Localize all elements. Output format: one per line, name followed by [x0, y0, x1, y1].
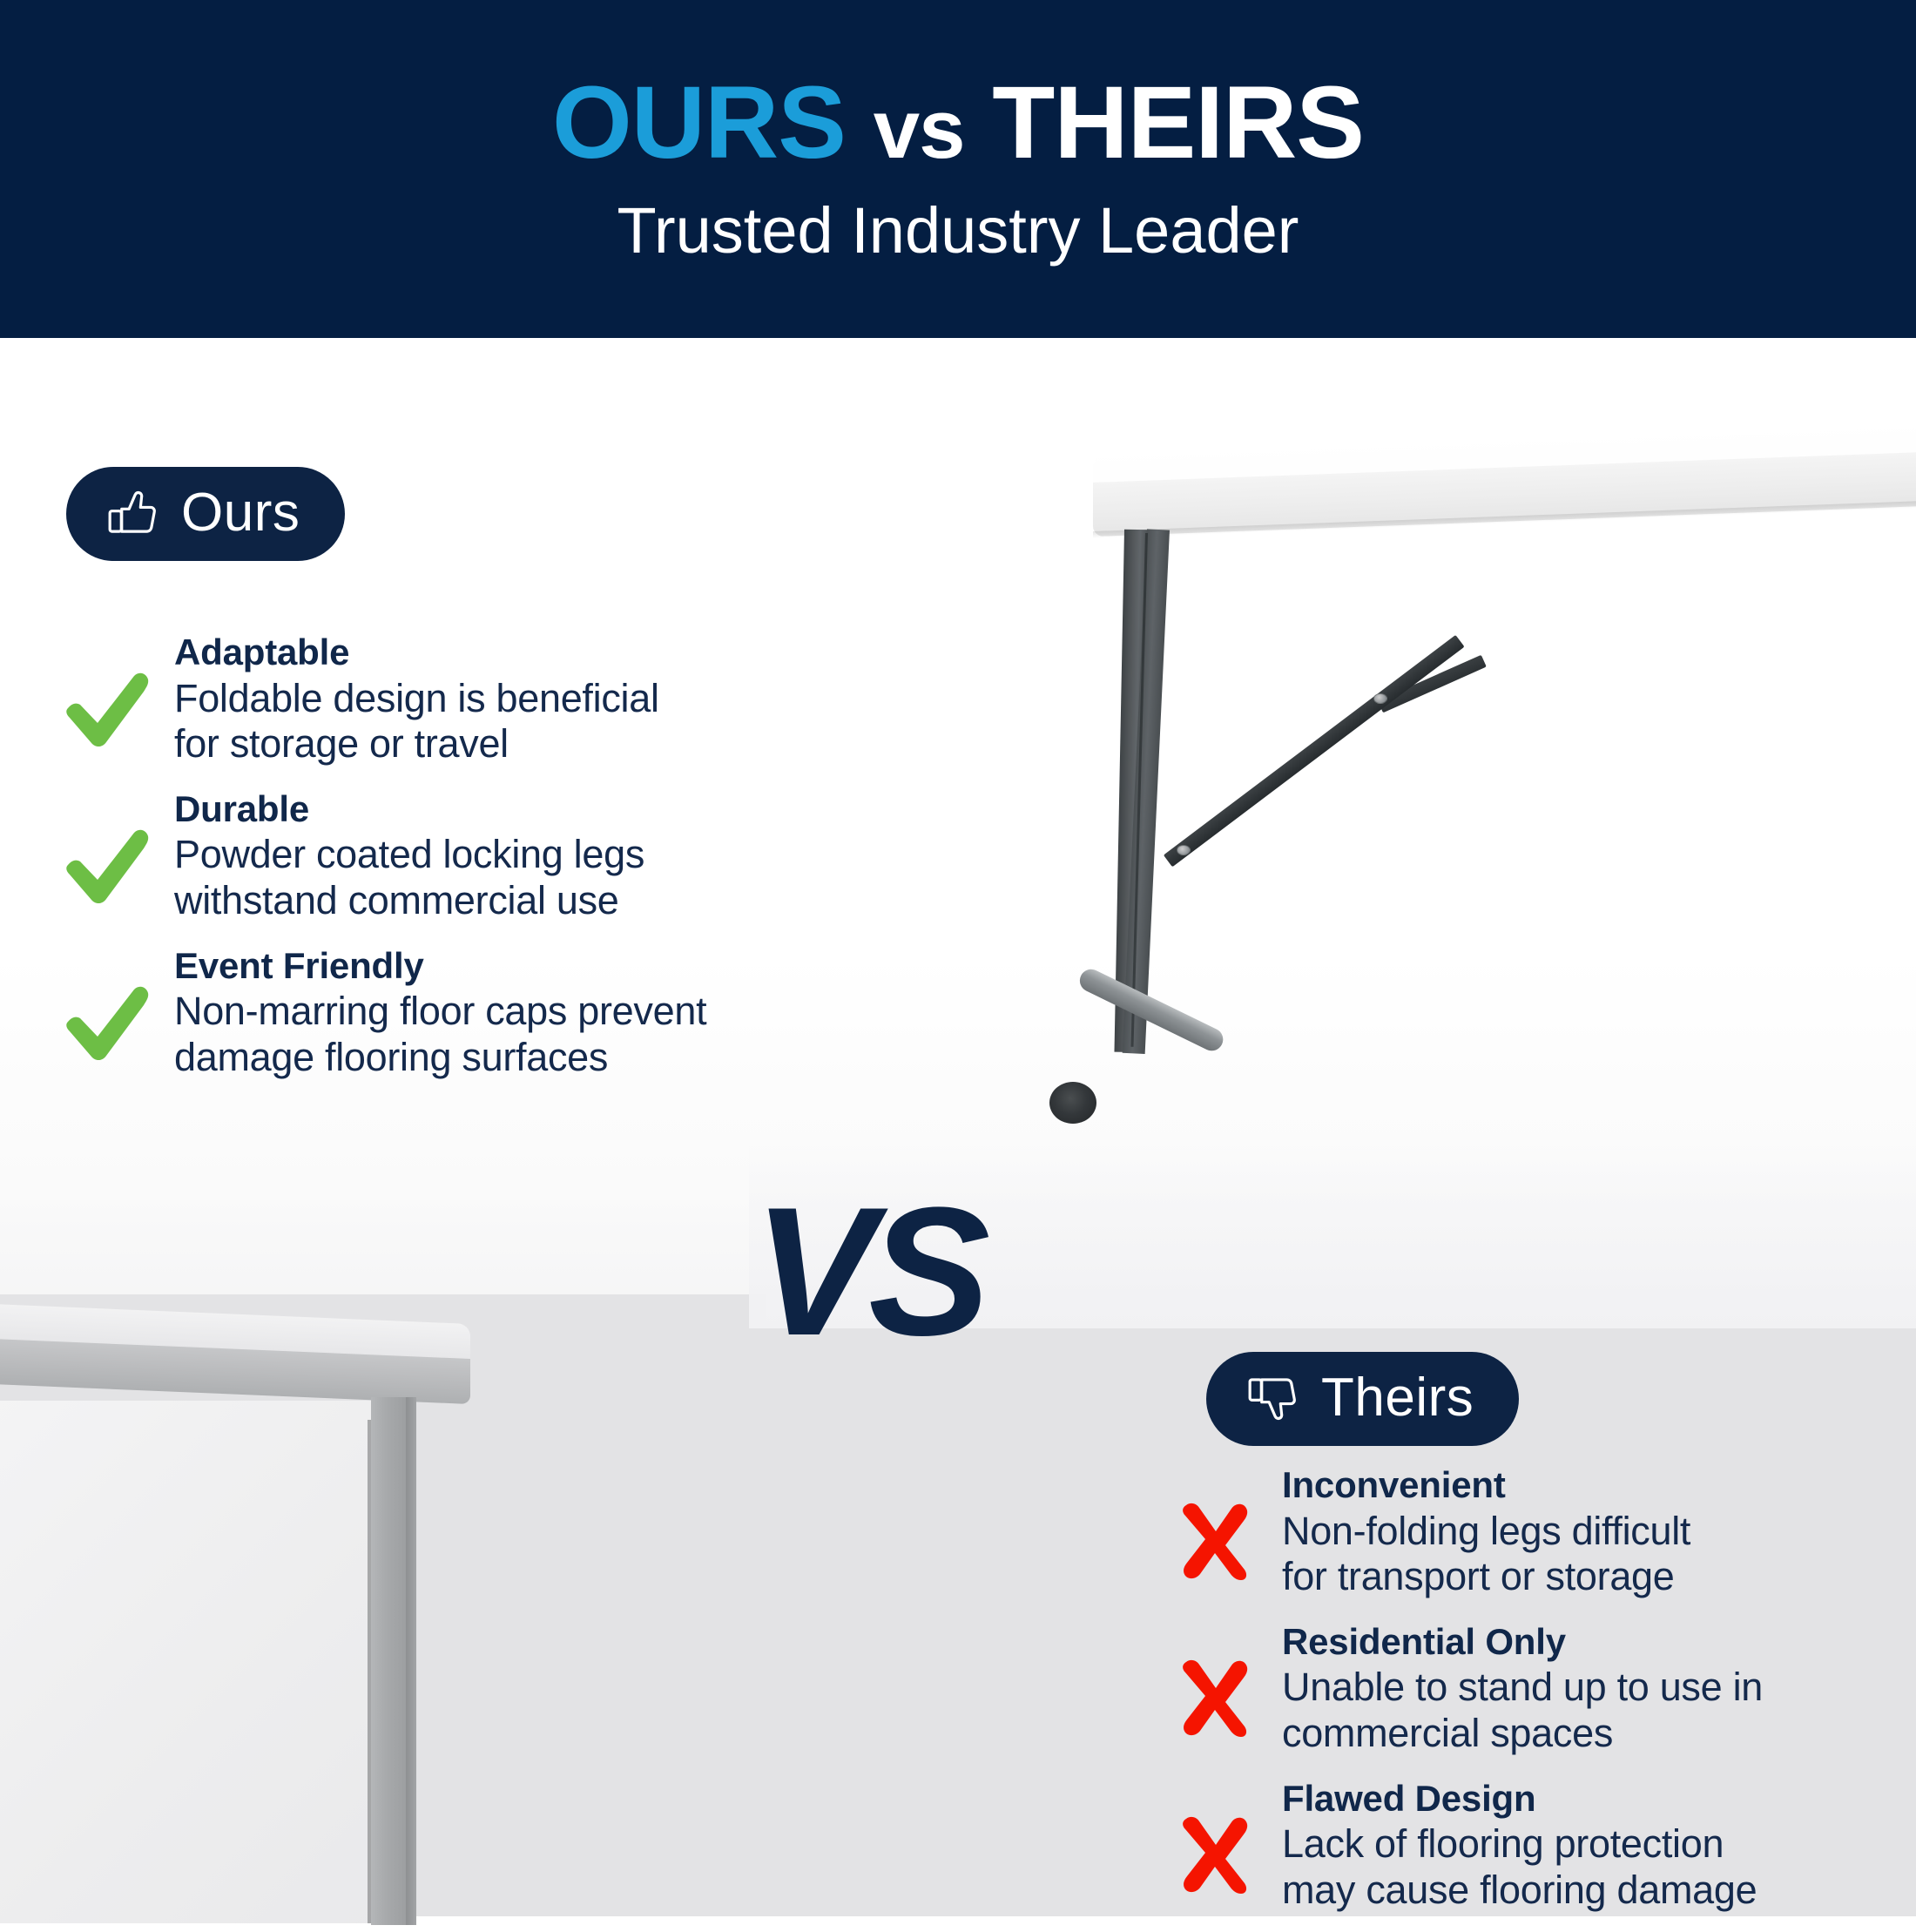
page-subtitle: Trusted Industry Leader	[617, 193, 1299, 267]
thumbs-down-icon	[1245, 1372, 1299, 1424]
leg-rivet-upper	[1373, 693, 1387, 704]
green-check-icon	[59, 786, 157, 908]
feature-desc-line: withstand commercial use	[174, 878, 826, 923]
ours-badge-label: Ours	[181, 486, 300, 540]
theirs-badge-label: Theirs	[1321, 1371, 1474, 1425]
feature-desc-line: Unable to stand up to use in	[1282, 1665, 1916, 1710]
feature-desc-line: Powder coated locking legs	[174, 832, 826, 877]
feature-title: Adaptable	[174, 631, 826, 674]
infographic-stage: OURS vs THEIRS Trusted Industry Leader V…	[0, 0, 1916, 1916]
competitor-table-panel	[0, 1401, 401, 1923]
theirs-badge: Theirs	[1206, 1352, 1519, 1446]
competitor-leg-outer-edge	[406, 1397, 416, 1925]
feature-desc-line: may cause flooring damage	[1282, 1868, 1916, 1913]
feature-description: Lack of flooring protection may cause fl…	[1282, 1821, 1916, 1912]
leg-rivet-lower	[1177, 845, 1191, 855]
title-theirs: THEIRS	[992, 65, 1364, 180]
red-x-icon	[1167, 1775, 1265, 1894]
feature-text-block: Adaptable Foldable design is beneficial …	[174, 629, 826, 767]
feature-desc-line: for transport or storage	[1282, 1554, 1916, 1599]
feature-text-block: Inconvenient Non-folding legs difficult …	[1282, 1462, 1916, 1599]
title-vs: vs	[874, 83, 965, 176]
red-x-icon	[1167, 1618, 1265, 1737]
feature-title: Inconvenient	[1282, 1463, 1916, 1507]
feature-description: Powder coated locking legs withstand com…	[174, 832, 826, 922]
feature-description: Non-folding legs difficult for transport…	[1282, 1509, 1916, 1599]
feature-text-block: Event Friendly Non-marring floor caps pr…	[174, 942, 826, 1080]
feature-description: Foldable design is beneficial for storag…	[174, 676, 826, 767]
list-item: Residential Only Unable to stand up to u…	[1167, 1618, 1916, 1756]
feature-title: Event Friendly	[174, 944, 826, 988]
list-item: Event Friendly Non-marring floor caps pr…	[59, 942, 826, 1080]
feature-text-block: Durable Powder coated locking legs withs…	[174, 786, 826, 923]
ours-badge: Ours	[66, 467, 345, 561]
feature-desc-line: for storage or travel	[174, 721, 826, 767]
folding-table-photo	[1093, 453, 1916, 1141]
list-item: Inconvenient Non-folding legs difficult …	[1167, 1462, 1916, 1599]
ours-feature-list: Adaptable Foldable design is beneficial …	[59, 629, 826, 1099]
folding-leg-assembly	[1093, 530, 1319, 1139]
thumbs-up-icon	[105, 487, 159, 539]
feature-desc-line: Non-folding legs difficult	[1282, 1509, 1916, 1554]
header-banner: OURS vs THEIRS Trusted Industry Leader	[0, 0, 1916, 338]
title-ours: OURS	[552, 65, 846, 180]
feature-description: Non-marring floor caps prevent damage fl…	[174, 989, 826, 1079]
red-x-icon	[1167, 1462, 1265, 1580]
green-check-icon	[59, 629, 157, 751]
feature-title: Flawed Design	[1282, 1777, 1916, 1821]
feature-text-block: Flawed Design Lack of flooring protectio…	[1282, 1775, 1916, 1913]
feature-title: Durable	[174, 787, 826, 831]
table-foot-bar	[1076, 965, 1227, 1054]
feature-desc-line: Non-marring floor caps prevent	[174, 989, 826, 1034]
feature-title: Residential Only	[1282, 1620, 1916, 1664]
list-item: Adaptable Foldable design is beneficial …	[59, 629, 826, 767]
versus-label: VS	[753, 1180, 983, 1363]
list-item: Durable Powder coated locking legs withs…	[59, 786, 826, 923]
feature-desc-line: Lack of flooring protection	[1282, 1821, 1916, 1867]
feature-description: Unable to stand up to use in commercial …	[1282, 1665, 1916, 1755]
theirs-feature-list: Inconvenient Non-folding legs difficult …	[1167, 1462, 1916, 1932]
green-check-icon	[59, 942, 157, 1064]
feature-desc-line: commercial spaces	[1282, 1711, 1916, 1756]
feature-desc-line: damage flooring surfaces	[174, 1035, 826, 1080]
leg-brace-diagonal	[1164, 635, 1465, 867]
feature-text-block: Residential Only Unable to stand up to u…	[1282, 1618, 1916, 1756]
list-item: Flawed Design Lack of flooring protectio…	[1167, 1775, 1916, 1913]
non-marring-floor-cap	[1049, 1082, 1096, 1124]
page-title: OURS vs THEIRS	[552, 71, 1364, 174]
competitor-table-photo	[0, 1324, 505, 1925]
feature-desc-line: Foldable design is beneficial	[174, 676, 826, 721]
